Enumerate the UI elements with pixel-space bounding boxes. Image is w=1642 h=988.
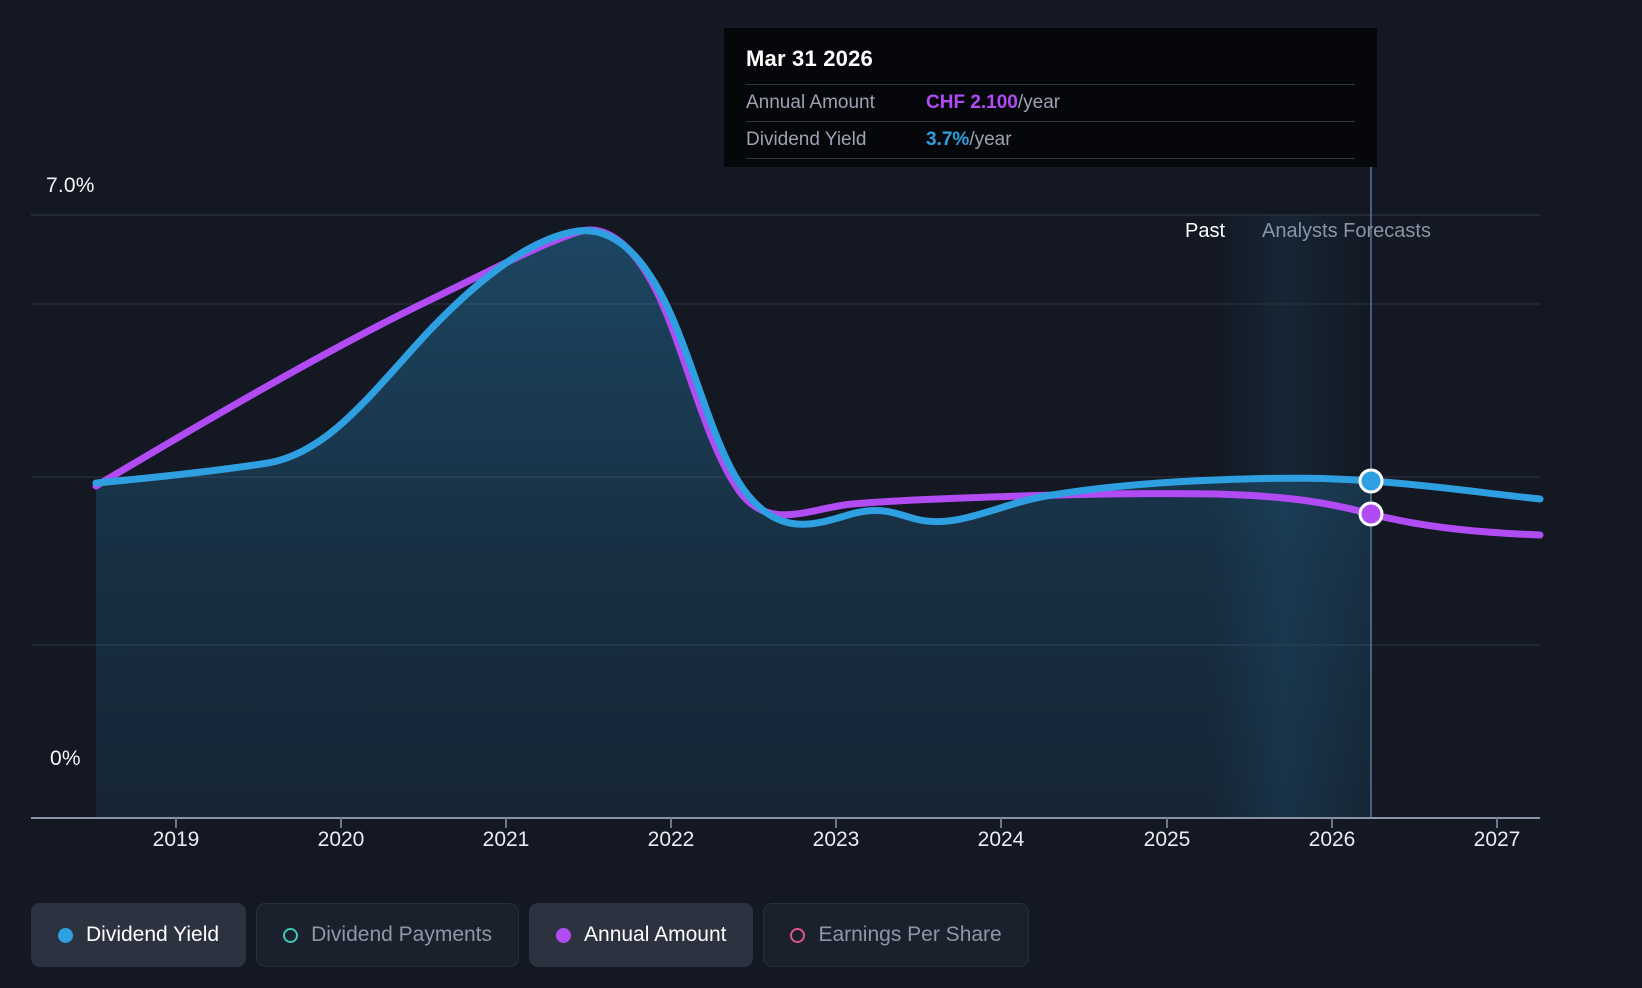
legend-item-earnings-per-share[interactable]: Earnings Per Share	[763, 903, 1028, 967]
series-dot-icon	[283, 928, 298, 943]
x-tick-2020: 2020	[318, 828, 365, 852]
tooltip-amount-suffix: /year	[1018, 92, 1060, 113]
tooltip-row-dividend-yield: Dividend Yield 3.7%/year	[746, 122, 1355, 159]
dividend-yield-chart: 7.0% 0% Past Analysts Forecasts 2019 202…	[0, 0, 1642, 988]
tooltip-yield-suffix: /year	[969, 129, 1011, 150]
legend-item-annual-amount[interactable]: Annual Amount	[529, 903, 753, 967]
dividend-yield-area	[96, 231, 1371, 818]
past-label: Past	[1185, 220, 1225, 243]
tooltip-value-annual-amount: CHF 2.100/year	[926, 92, 1060, 114]
x-axis	[31, 818, 1540, 828]
tooltip-key-dividend-yield: Dividend Yield	[746, 129, 926, 151]
tooltip-row-annual-amount: Annual Amount CHF 2.100/year	[746, 85, 1355, 122]
tooltip-yield-value: 3.7%	[926, 129, 969, 150]
legend-label-annual-amount: Annual Amount	[584, 923, 726, 947]
x-tick-2019: 2019	[153, 828, 200, 852]
tooltip-key-annual-amount: Annual Amount	[746, 92, 926, 114]
legend-item-dividend-yield[interactable]: Dividend Yield	[31, 903, 246, 967]
series-dot-icon	[58, 928, 73, 943]
annual-amount-marker[interactable]	[1360, 503, 1382, 525]
legend-label-dividend-payments: Dividend Payments	[311, 923, 492, 947]
chart-legend: Dividend Yield Dividend Payments Annual …	[31, 903, 1029, 967]
tooltip-amount-value: CHF 2.100	[926, 92, 1018, 113]
x-tick-2021: 2021	[483, 828, 530, 852]
y-axis-zero-label: 0%	[50, 747, 81, 771]
chart-tooltip: Mar 31 2026 Annual Amount CHF 2.100/year…	[724, 28, 1377, 167]
series-dot-icon	[790, 928, 805, 943]
x-tick-2027: 2027	[1474, 828, 1521, 852]
legend-label-dividend-yield: Dividend Yield	[86, 923, 219, 947]
x-tick-2024: 2024	[978, 828, 1025, 852]
series-dot-icon	[556, 928, 571, 943]
tooltip-value-dividend-yield: 3.7%/year	[926, 129, 1012, 151]
x-axis-labels: 2019 2020 2021 2022 2023 2024 2025 2026 …	[0, 828, 1642, 868]
legend-label-earnings-per-share: Earnings Per Share	[818, 923, 1001, 947]
x-tick-2026: 2026	[1309, 828, 1356, 852]
analysts-forecasts-label: Analysts Forecasts	[1262, 220, 1431, 243]
dividend-yield-marker[interactable]	[1360, 470, 1382, 492]
tooltip-date: Mar 31 2026	[746, 46, 1355, 85]
x-tick-2023: 2023	[813, 828, 860, 852]
y-axis-top-label: 7.0%	[46, 174, 95, 198]
legend-item-dividend-payments[interactable]: Dividend Payments	[256, 903, 519, 967]
x-tick-2025: 2025	[1144, 828, 1191, 852]
x-tick-2022: 2022	[648, 828, 695, 852]
